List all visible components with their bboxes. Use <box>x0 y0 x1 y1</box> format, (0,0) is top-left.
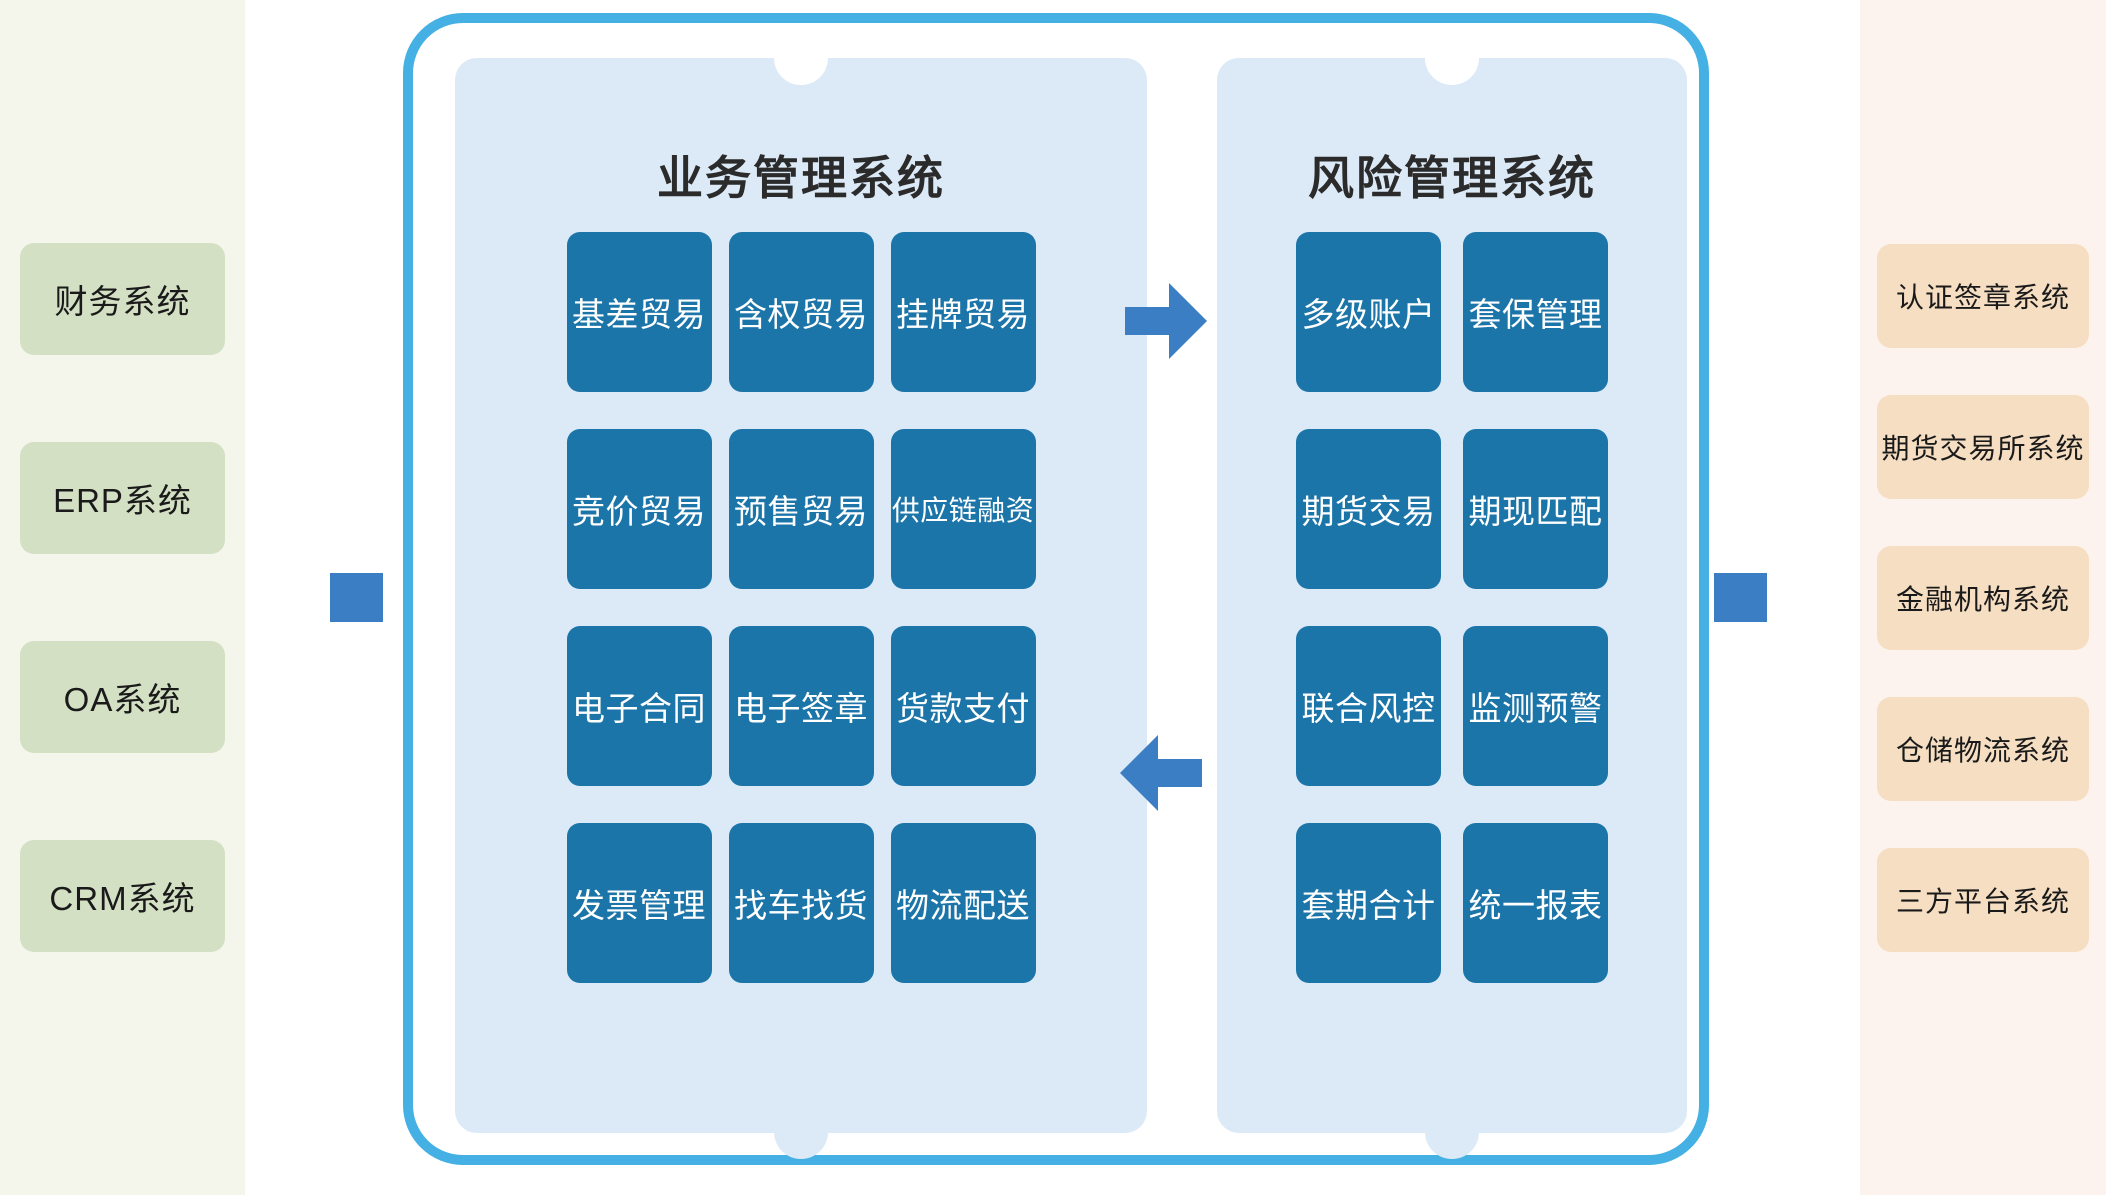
system-tile-finance[interactable]: 财务系统 <box>20 243 225 355</box>
module-tile-hedging-management[interactable]: 套保管理 <box>1463 232 1608 392</box>
module-tile-supply-chain-finance[interactable]: 供应链融资 <box>891 429 1036 589</box>
tile-row: 套期合计 统一报表 <box>1296 823 1608 983</box>
business-management-panel: 业务管理系统 基差贸易 含权贸易 挂牌贸易 竞价贸易 预售贸易 供应链融资 电子… <box>455 58 1147 1133</box>
system-tile-futures-exchange[interactable]: 期货交易所系统 <box>1877 395 2089 499</box>
module-tile-electronic-contract[interactable]: 电子合同 <box>567 626 712 786</box>
internal-systems-column: 财务系统 ERP系统 OA系统 CRM系统 <box>0 0 245 1195</box>
module-tile-unified-report[interactable]: 统一报表 <box>1463 823 1608 983</box>
arrow-right-icon <box>1125 283 1207 359</box>
module-tile-bidding-trade[interactable]: 竞价贸易 <box>567 429 712 589</box>
module-tile-invoice-management[interactable]: 发票管理 <box>567 823 712 983</box>
panel-notch-bottom-icon <box>774 1132 828 1159</box>
module-tile-futures-trading[interactable]: 期货交易 <box>1296 429 1441 589</box>
business-tile-grid: 基差贸易 含权贸易 挂牌贸易 竞价贸易 预售贸易 供应链融资 电子合同 电子签章… <box>455 232 1147 983</box>
tile-row: 期货交易 期现匹配 <box>1296 429 1608 589</box>
module-tile-label: 货款支付 <box>896 682 1030 730</box>
module-tile-label: 电子签章 <box>734 682 868 730</box>
system-tile-label: 认证签章系统 <box>1896 276 2070 316</box>
module-tile-find-truck-cargo[interactable]: 找车找货 <box>729 823 874 983</box>
module-tile-monitoring-alert[interactable]: 监测预警 <box>1463 626 1608 786</box>
system-tile-label: 金融机构系统 <box>1896 578 2070 618</box>
tile-row: 基差贸易 含权贸易 挂牌贸易 <box>567 232 1036 392</box>
module-tile-label: 套保管理 <box>1469 288 1603 336</box>
external-systems-column: 认证签章系统 期货交易所系统 金融机构系统 仓储物流系统 三方平台系统 <box>1860 0 2106 1195</box>
left-connector-block <box>330 573 383 622</box>
module-tile-logistics-delivery[interactable]: 物流配送 <box>891 823 1036 983</box>
module-tile-option-trade[interactable]: 含权贸易 <box>729 232 874 392</box>
panel-title-risk: 风险管理系统 <box>1217 142 1687 208</box>
risk-management-panel: 风险管理系统 多级账户 套保管理 期货交易 期现匹配 联合风控 监测预警 套期合… <box>1217 58 1687 1133</box>
system-tile-certification-seal[interactable]: 认证签章系统 <box>1877 244 2089 348</box>
module-tile-futures-spot-matching[interactable]: 期现匹配 <box>1463 429 1608 589</box>
module-tile-electronic-seal[interactable]: 电子签章 <box>729 626 874 786</box>
system-tile-label: OA系统 <box>64 673 182 721</box>
module-tile-label: 监测预警 <box>1469 682 1603 730</box>
module-tile-listing-trade[interactable]: 挂牌贸易 <box>891 232 1036 392</box>
system-tile-financial-institution[interactable]: 金融机构系统 <box>1877 546 2089 650</box>
module-tile-label: 物流配送 <box>896 879 1030 927</box>
system-tile-erp[interactable]: ERP系统 <box>20 442 225 554</box>
panel-title-business: 业务管理系统 <box>455 142 1147 208</box>
module-tile-label: 发票管理 <box>572 879 706 927</box>
platform-frame: 业务管理系统 基差贸易 含权贸易 挂牌贸易 竞价贸易 预售贸易 供应链融资 电子… <box>403 13 1709 1165</box>
system-tile-label: 仓储物流系统 <box>1896 729 2070 769</box>
module-tile-label: 供应链融资 <box>892 489 1035 529</box>
module-tile-payment[interactable]: 货款支付 <box>891 626 1036 786</box>
module-tile-label: 竞价贸易 <box>572 485 706 533</box>
system-tile-crm[interactable]: CRM系统 <box>20 840 225 952</box>
module-tile-basis-trade[interactable]: 基差贸易 <box>567 232 712 392</box>
module-tile-label: 统一报表 <box>1469 879 1603 927</box>
tile-row: 电子合同 电子签章 货款支付 <box>567 626 1036 786</box>
module-tile-label: 挂牌贸易 <box>896 288 1030 336</box>
module-tile-joint-risk-control[interactable]: 联合风控 <box>1296 626 1441 786</box>
module-tile-label: 套期合计 <box>1302 879 1436 927</box>
panel-notch-bottom-icon <box>1425 1132 1479 1159</box>
tile-row: 多级账户 套保管理 <box>1296 232 1608 392</box>
module-tile-label: 含权贸易 <box>734 288 868 336</box>
system-tile-label: ERP系统 <box>53 474 192 522</box>
module-tile-label: 多级账户 <box>1302 288 1436 336</box>
system-tile-label: 期货交易所系统 <box>1881 427 2084 467</box>
module-tile-label: 期货交易 <box>1302 485 1436 533</box>
module-tile-label: 基差贸易 <box>572 288 706 336</box>
system-tile-label: 财务系统 <box>55 275 191 323</box>
arrow-left-icon <box>1120 735 1202 811</box>
tile-row: 联合风控 监测预警 <box>1296 626 1608 786</box>
system-tile-label: 三方平台系统 <box>1896 880 2070 920</box>
system-tile-third-party-platform[interactable]: 三方平台系统 <box>1877 848 2089 952</box>
system-tile-label: CRM系统 <box>49 872 195 920</box>
module-tile-label: 找车找货 <box>734 879 868 927</box>
module-tile-label: 预售贸易 <box>734 485 868 533</box>
tile-row: 发票管理 找车找货 物流配送 <box>567 823 1036 983</box>
module-tile-hedge-total[interactable]: 套期合计 <box>1296 823 1441 983</box>
tile-row: 竞价贸易 预售贸易 供应链融资 <box>567 429 1036 589</box>
panel-notch-top-icon <box>774 58 828 85</box>
module-tile-presale-trade[interactable]: 预售贸易 <box>729 429 874 589</box>
right-connector-block <box>1714 573 1767 622</box>
panel-notch-top-icon <box>1425 58 1479 85</box>
module-tile-label: 联合风控 <box>1302 682 1436 730</box>
risk-tile-grid: 多级账户 套保管理 期货交易 期现匹配 联合风控 监测预警 套期合计 统一报表 <box>1217 232 1687 983</box>
system-tile-oa[interactable]: OA系统 <box>20 641 225 753</box>
system-tile-warehouse-logistics[interactable]: 仓储物流系统 <box>1877 697 2089 801</box>
module-tile-label: 期现匹配 <box>1469 485 1603 533</box>
module-tile-label: 电子合同 <box>572 682 706 730</box>
module-tile-multilevel-account[interactable]: 多级账户 <box>1296 232 1441 392</box>
